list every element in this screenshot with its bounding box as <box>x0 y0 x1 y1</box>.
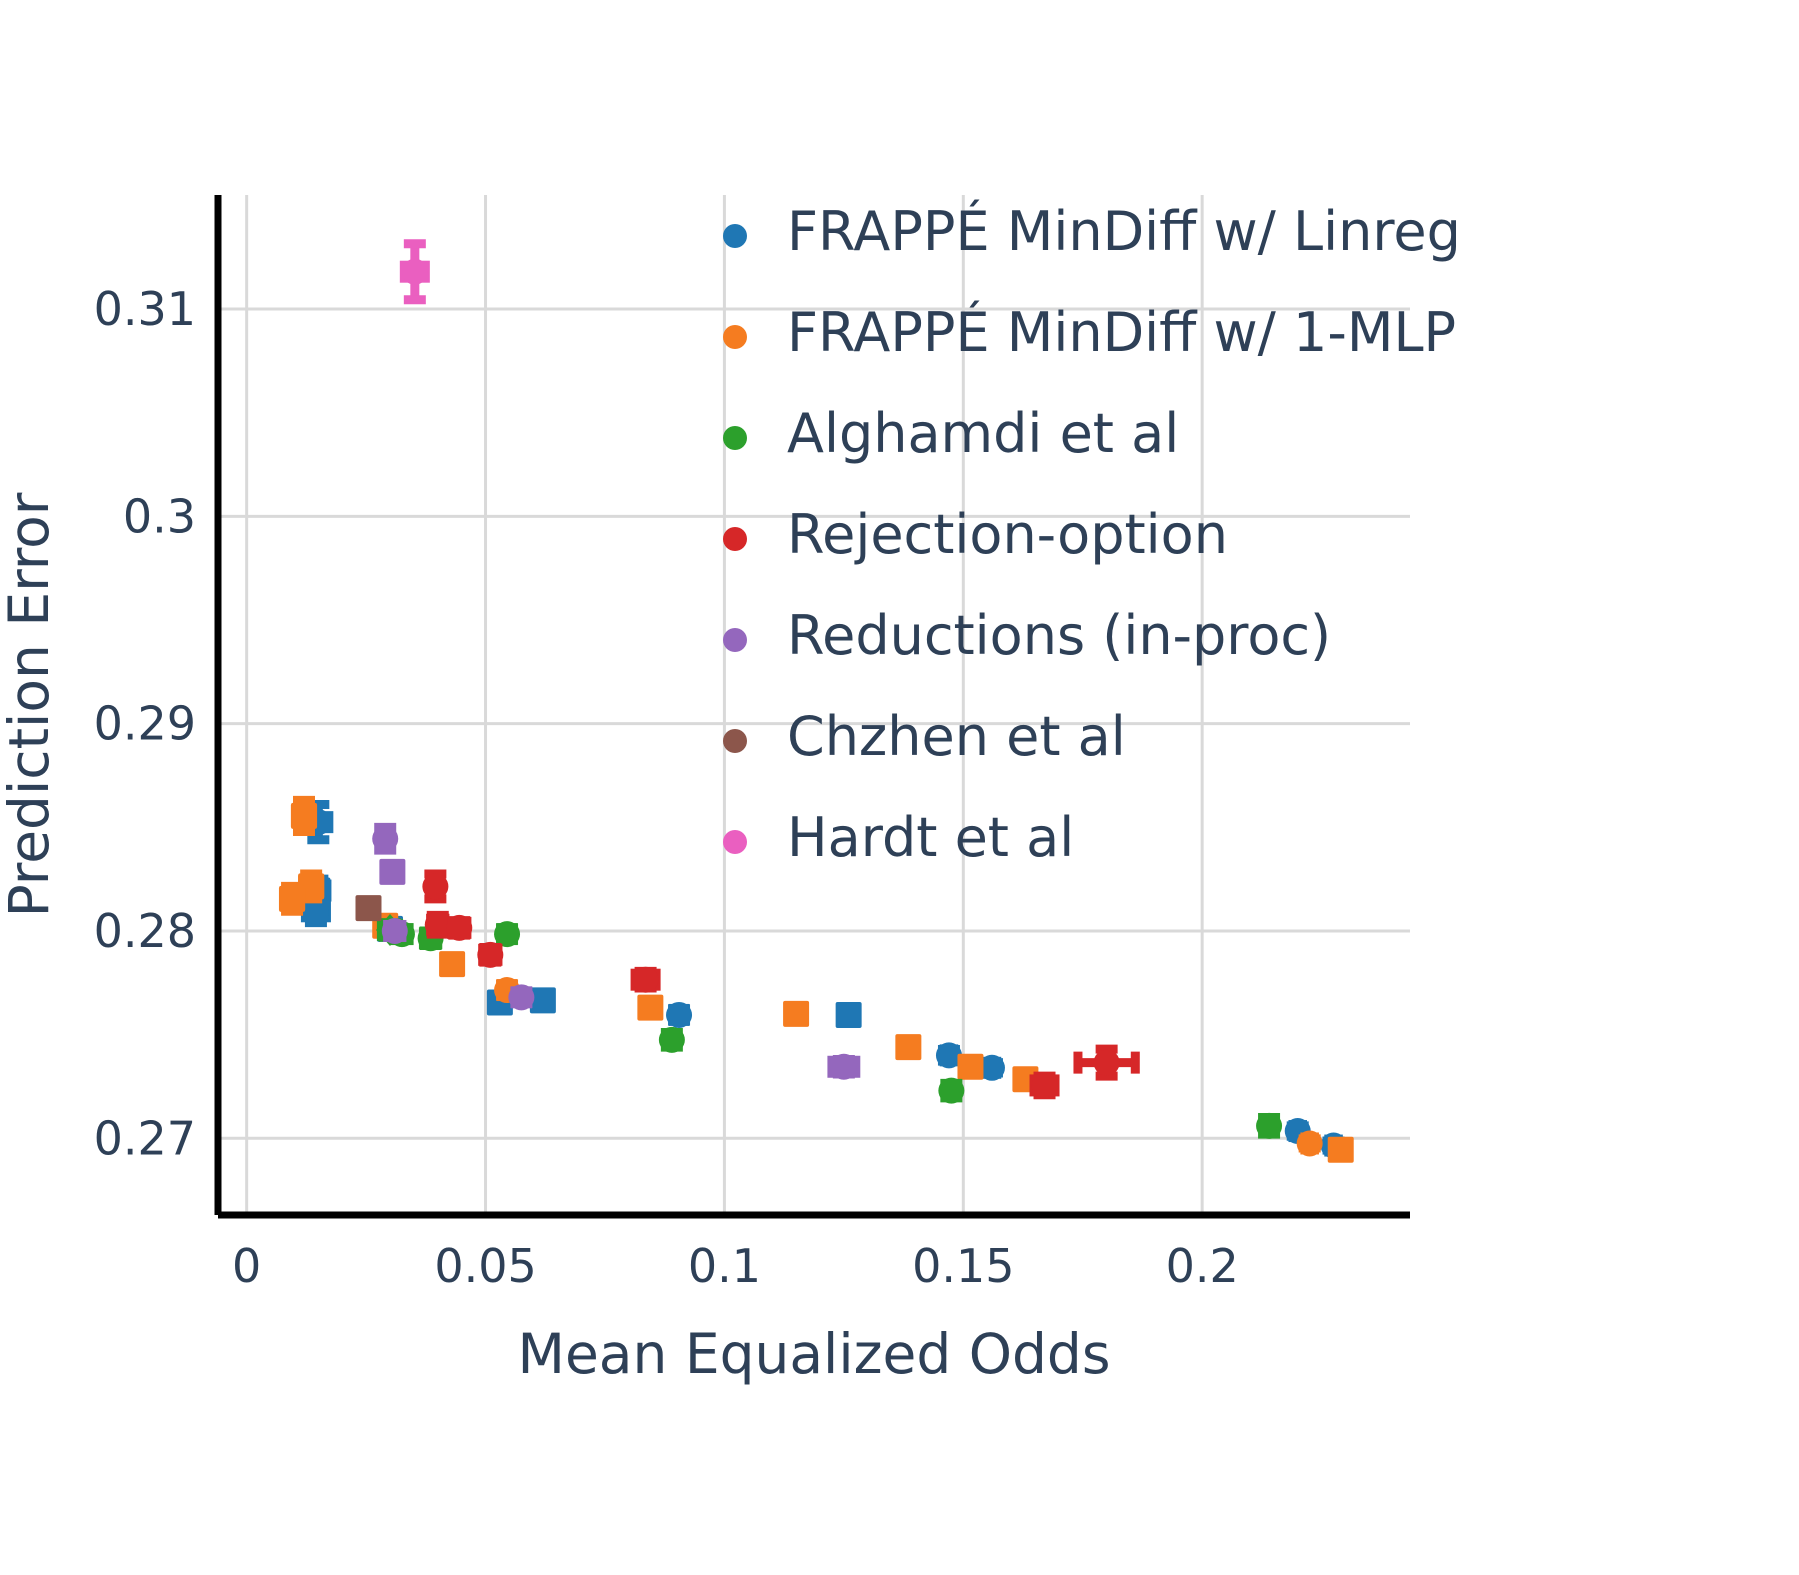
y-tick-label: 0.28 <box>94 904 196 958</box>
data-point-marker <box>355 895 381 921</box>
y-tick-label: 0.29 <box>94 697 196 751</box>
data-point-marker <box>279 886 305 912</box>
legend-item-label: Rejection-option <box>787 503 1228 566</box>
legend-marker-icon <box>723 729 747 753</box>
series-group <box>355 895 381 921</box>
data-point-marker <box>659 1027 685 1053</box>
data-point-marker <box>422 873 448 899</box>
legend-marker-icon <box>723 628 747 652</box>
data-point-marker <box>637 995 663 1021</box>
data-point-marker <box>439 951 465 977</box>
x-tick-label: 0.15 <box>912 1239 1014 1293</box>
data-point-marker <box>291 803 317 829</box>
series-group <box>376 914 1282 1139</box>
series-group <box>422 873 1135 1098</box>
data-point-marker <box>477 942 503 968</box>
data-point-marker <box>379 859 405 885</box>
legend-marker-icon <box>723 830 747 854</box>
legend-marker-icon <box>723 426 747 450</box>
data-point-marker <box>938 1078 964 1104</box>
data-point-marker <box>895 1034 921 1060</box>
legend-item-label: Chzhen et al <box>787 705 1126 768</box>
legend-item-label: FRAPPÉ MinDiff w/ Linreg <box>787 200 1461 263</box>
legend-item-label: Alghamdi et al <box>787 402 1179 465</box>
legend-marker-icon <box>723 224 747 248</box>
y-tick-label: 0.31 <box>94 282 196 336</box>
data-point-marker <box>402 259 428 285</box>
y-tick-label: 0.3 <box>123 489 196 543</box>
data-point-marker <box>831 1054 857 1080</box>
data-point-marker <box>1032 1072 1058 1098</box>
legend-marker-icon <box>723 527 747 551</box>
legend-item-label: Reductions (in-proc) <box>787 604 1331 667</box>
y-axis-tick-labels: 0.270.280.290.30.31 <box>94 282 196 1165</box>
data-point-marker <box>372 826 398 852</box>
legend-item-5[interactable]: Chzhen et al <box>723 705 1126 768</box>
x-axis-title: Mean Equalized Odds <box>518 1322 1111 1386</box>
x-tick-label: 0 <box>232 1239 261 1293</box>
data-point-marker <box>836 1002 862 1028</box>
figure-container: 00.050.10.150.2 0.270.280.290.30.31 Mean… <box>0 0 1799 1575</box>
x-tick-label: 0.2 <box>1166 1239 1239 1293</box>
y-tick-label: 0.27 <box>94 1111 196 1165</box>
data-point-marker <box>382 918 408 944</box>
legend-item-label: Hardt et al <box>787 806 1074 869</box>
y-axis-title: Prediction Error <box>0 492 61 917</box>
x-tick-label: 0.1 <box>688 1239 761 1293</box>
data-point-marker <box>446 915 472 941</box>
data-point-marker <box>1328 1137 1354 1163</box>
legend-item-0[interactable]: FRAPPÉ MinDiff w/ Linreg <box>723 200 1461 263</box>
x-axis-tick-labels: 00.050.10.150.2 <box>232 1239 1239 1293</box>
data-point-marker <box>1256 1113 1282 1139</box>
series-group <box>402 244 428 300</box>
data-point-marker <box>633 967 659 993</box>
legend: FRAPPÉ MinDiff w/ LinregFRAPPÉ MinDiff w… <box>723 200 1461 869</box>
data-point-marker <box>1094 1050 1120 1076</box>
legend-item-6[interactable]: Hardt et al <box>723 806 1074 869</box>
data-point-marker <box>508 984 534 1010</box>
legend-item-4[interactable]: Reductions (in-proc) <box>723 604 1331 667</box>
legend-marker-icon <box>723 325 747 349</box>
data-point-marker <box>1297 1130 1323 1156</box>
scatter-plot: 00.050.10.150.2 0.270.280.290.30.31 Mean… <box>0 0 1799 1575</box>
x-tick-label: 0.05 <box>434 1239 536 1293</box>
legend-item-3[interactable]: Rejection-option <box>723 503 1228 566</box>
legend-item-label: FRAPPÉ MinDiff w/ 1-MLP <box>787 301 1456 364</box>
data-point-marker <box>957 1054 983 1080</box>
legend-item-2[interactable]: Alghamdi et al <box>723 402 1179 465</box>
data-points-layer <box>279 244 1354 1163</box>
legend-item-1[interactable]: FRAPPÉ MinDiff w/ 1-MLP <box>723 301 1456 364</box>
data-point-marker <box>666 1002 692 1028</box>
data-point-marker <box>783 1001 809 1027</box>
